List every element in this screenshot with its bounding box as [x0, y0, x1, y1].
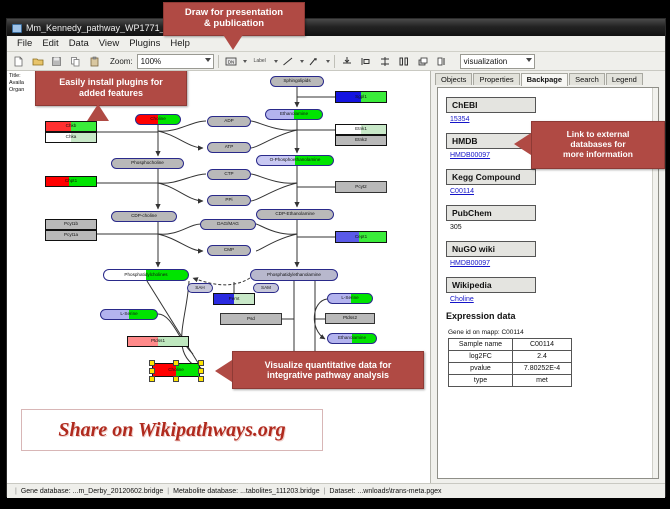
gene-node-cept1[interactable]: Cept1 — [335, 231, 387, 243]
metabolite-node-cdp-choline[interactable]: CDP-choline — [111, 211, 177, 222]
pathway-availability-line: Availa — [9, 80, 24, 87]
node-label: CDP-Ethanolamine — [275, 212, 314, 217]
metabolite-node-phosphatidylethanolamine[interactable]: Phosphatidylethanolamine — [250, 269, 338, 281]
status-metabolite-database-label: Metabolite database: — [173, 488, 238, 495]
db-header-wikipedia: Wikipedia — [446, 277, 536, 293]
cell-key: type — [449, 375, 513, 387]
node-label: Pcyt1b — [64, 222, 78, 227]
statusbar-divider-0: | — [15, 488, 17, 495]
screenshot-root: Mm_Kennedy_pathway_WP1771_45176.gpml Fil… — [0, 0, 670, 509]
label-tool-icon[interactable]: Label — [249, 53, 271, 70]
callout-draw: Draw for presentation & publication — [163, 2, 305, 36]
metabolite-node-ethanolamine-top[interactable]: Ethanolamine — [265, 109, 323, 120]
align-stack-icon[interactable] — [377, 53, 394, 70]
tab-search[interactable]: Search — [569, 73, 605, 85]
db-header-nugo-wiki: NuGO wiki — [446, 241, 536, 257]
menu-view[interactable]: View — [94, 38, 124, 49]
db-header-chebi: ChEBI — [446, 97, 536, 113]
metabolite-node-sam[interactable]: SAM — [253, 283, 279, 293]
gene-node-chpt1[interactable]: Chpt1 — [45, 176, 97, 187]
interaction-tool-icon[interactable] — [306, 53, 323, 70]
callout-draw-arrow-icon — [222, 33, 244, 50]
node-label: PPi — [225, 198, 232, 203]
gene-node-chka[interactable]: Chka — [45, 132, 97, 143]
zoom-label: Zoom: — [110, 57, 133, 66]
metabolite-node-cmp[interactable]: CMP — [207, 245, 251, 256]
node-label: Cept1 — [355, 235, 367, 240]
callout-plugins-text: Easily install plugins for added feature… — [59, 77, 163, 98]
gene-node-pcyt2[interactable]: Pcyt2 — [335, 181, 387, 193]
metabolite-node-choline-top[interactable]: Choline — [135, 114, 181, 125]
menu-plugins[interactable]: Plugins — [124, 38, 165, 49]
align-left-icon[interactable] — [358, 53, 375, 70]
cell-value: C00114 — [513, 339, 572, 351]
db-link-nugo-wiki[interactable]: HMDB00097 — [450, 260, 650, 267]
node-label: O-Phosphoethanolamine — [270, 158, 321, 163]
menu-data[interactable]: Data — [64, 38, 94, 49]
metabolite-node-l-serine-left[interactable]: L-Serine — [100, 309, 158, 320]
status-dataset-value: ...wnloads\trans-meta.pgex — [357, 488, 441, 495]
node-label: DAG/MAG — [217, 222, 239, 227]
metabolite-node-l-serine-right[interactable]: L-Serine — [327, 293, 373, 304]
db-header-pubchem: PubChem — [446, 205, 536, 221]
interaction-dropdown-icon[interactable] — [326, 60, 330, 63]
table-row: pvalue 7.80252E-4 — [449, 363, 572, 375]
metabolite-node-cdp-ethanolamine[interactable]: CDP-Ethanolamine — [256, 209, 334, 220]
node-label: Sphingolipids — [283, 79, 310, 84]
db-link-kegg-compound[interactable]: C00114 — [450, 188, 650, 195]
metabolite-node-phosphatidylcholines[interactable]: Phosphatidylcholines — [103, 269, 189, 281]
db-header-kegg-compound: Kegg Compound — [446, 169, 536, 185]
node-label: Phosphocholine — [131, 161, 164, 166]
node-label: ATP — [225, 145, 234, 150]
node-label: Pcyt1a — [64, 233, 78, 238]
datanode-icon[interactable]: DN — [223, 53, 240, 70]
node-label: Choline — [168, 368, 184, 373]
node-label: Etnk1 — [355, 127, 367, 132]
menu-help[interactable]: Help — [165, 38, 195, 49]
gene-node-sgpl1[interactable]: Sgpl1 — [335, 91, 387, 103]
node-label: CDP-choline — [131, 214, 157, 219]
node-label: Ptdss2 — [343, 316, 357, 321]
gene-node-ptdss2[interactable]: Ptdss2 — [325, 313, 375, 324]
cell-value: 7.80252E-4 — [513, 363, 572, 375]
cell-value: 2.4 — [513, 351, 572, 363]
node-label: CMP — [224, 248, 234, 253]
node-label: Pemt — [229, 297, 240, 302]
tab-legend[interactable]: Legend — [606, 73, 643, 85]
node-label: Ethanolamine — [280, 112, 308, 117]
tab-properties[interactable]: Properties — [473, 73, 519, 85]
metabolite-node-sphingolipids[interactable]: Sphingolipids — [270, 76, 324, 87]
bring-to-front-icon[interactable] — [415, 53, 432, 70]
table-row: type met — [449, 375, 572, 387]
gene-node-chkb[interactable]: Chkb — [45, 121, 97, 132]
gene-node-psd[interactable]: Psd — [220, 313, 282, 325]
status-metabolite-database-value: ...tabolites_111203.bridge — [240, 488, 320, 495]
selection-handle-s[interactable] — [173, 376, 179, 382]
status-gene-database-value: ...m_Derby_20120602.bridge — [73, 488, 164, 495]
metabolite-node-ctp[interactable]: CTP — [207, 169, 251, 180]
svg-text:DN: DN — [228, 59, 235, 64]
chevron-down-icon-2 — [526, 58, 532, 62]
status-gene-database-label: Gene database: — [21, 488, 71, 495]
callout-visualize-arrow-icon — [215, 360, 232, 382]
selection-handle-ne[interactable] — [198, 360, 204, 366]
pathvisio-window: Mm_Kennedy_pathway_WP1771_45176.gpml Fil… — [6, 18, 666, 497]
gene-node-pemt[interactable]: Pemt — [213, 293, 255, 305]
callout-visualize: Visualize quantitative data for integrat… — [232, 351, 424, 389]
side-panel: Objects Properties Backpage Search Legen… — [431, 71, 665, 483]
callout-plugins: Easily install plugins for added feature… — [35, 71, 187, 106]
pathway-canvas[interactable]: Title: Availa Organ — [7, 71, 431, 483]
align-top-icon[interactable] — [339, 53, 356, 70]
callout-visualize-text: Visualize quantitative data for integrat… — [265, 360, 392, 381]
tab-objects[interactable]: Objects — [435, 73, 472, 85]
callout-share-text: Share on Wikipathways.org — [58, 419, 285, 442]
metabolite-node-sah[interactable]: SAH — [187, 283, 213, 293]
statusbar-divider-1: | — [167, 488, 169, 495]
node-label: Psd — [247, 317, 255, 322]
node-label: SAH — [195, 286, 204, 291]
node-label: ADP — [224, 119, 233, 124]
db-link-wikipedia[interactable]: Choline — [450, 296, 650, 303]
gene-id-line: Gene id on mapp: C00114 — [448, 329, 650, 336]
line-tool-icon[interactable] — [280, 53, 297, 70]
node-label: L-Serine — [120, 312, 137, 317]
toolbar-separator-2 — [334, 55, 335, 68]
metabolite-node-dag-mag[interactable]: DAG/MAG — [200, 219, 256, 230]
selection-handle-se[interactable] — [198, 376, 204, 382]
pathvisio-app-icon — [11, 22, 22, 33]
side-panel-tabs: Objects Properties Backpage Search Legen… — [431, 71, 665, 85]
menu-file[interactable]: File — [12, 38, 37, 49]
pathway-info-text: Title: Availa Organ — [9, 73, 24, 94]
zoom-value: 100% — [141, 57, 161, 66]
db-value-pubchem: 305 — [450, 224, 650, 231]
copy-icon[interactable] — [67, 53, 84, 70]
node-label: Phosphatidylethanolamine — [267, 273, 321, 278]
line-dropdown-icon[interactable] — [300, 60, 304, 63]
callout-plugins-arrow-icon — [87, 104, 109, 121]
visualization-value: visualization — [464, 57, 508, 66]
chevron-down-icon — [205, 58, 211, 62]
visualization-combo[interactable]: visualization — [460, 54, 535, 69]
tab-backpage[interactable]: Backpage — [521, 73, 568, 86]
node-label: Choline — [150, 117, 166, 122]
window-titlebar: Mm_Kennedy_pathway_WP1771_45176.gpml — [7, 19, 665, 36]
node-label: Ethanolamine — [338, 336, 366, 341]
callout-share: Share on Wikipathways.org — [21, 409, 323, 451]
gene-node-pcyt1b[interactable]: Pcyt1b — [45, 219, 97, 230]
menubar: File Edit Data View Plugins Help — [7, 36, 665, 52]
paste-icon[interactable] — [86, 53, 103, 70]
selection-handle-w[interactable] — [149, 368, 155, 374]
table-row: log2FC 2.4 — [449, 351, 572, 363]
selection-handle-nw[interactable] — [149, 360, 155, 366]
toolbar: Zoom: 100% DN Label — [7, 52, 665, 71]
node-label: Chkb — [66, 124, 77, 129]
table-row: Sample name C00114 — [449, 339, 572, 351]
metabolite-node-atp[interactable]: ATP — [207, 142, 251, 153]
expression-data-heading: Expression data — [446, 311, 650, 321]
same-width-icon[interactable] — [396, 53, 413, 70]
new-file-icon[interactable] — [10, 53, 27, 70]
node-label: SAM — [261, 286, 271, 291]
gene-node-ptdss1[interactable]: Ptdss1 — [127, 336, 189, 347]
gene-node-pcyt1a[interactable]: Pcyt1a — [45, 230, 97, 241]
gene-node-etnk1[interactable]: Etnk1 — [335, 124, 387, 135]
expression-data-table: Sample name C00114 log2FC 2.4 pvalue 7.8… — [448, 338, 572, 387]
cell-key: Sample name — [449, 339, 513, 351]
save-icon[interactable] — [48, 53, 65, 70]
send-to-back-icon[interactable] — [434, 53, 451, 70]
node-label: Phosphatidylcholines — [124, 273, 167, 278]
callout-links-text: Link to external databases for more info… — [563, 130, 633, 159]
cell-key: log2FC — [449, 351, 513, 363]
statusbar: | Gene database: ...m_Derby_20120602.bri… — [7, 483, 665, 498]
node-label: Sgpl1 — [355, 95, 367, 100]
callout-links: Link to external databases for more info… — [531, 121, 665, 169]
selection-handle-sw[interactable] — [149, 376, 155, 382]
pathway-organism-line: Organ — [9, 87, 24, 94]
toolbar-separator — [218, 55, 219, 68]
node-label: Ptdss1 — [151, 339, 165, 344]
statusbar-divider-2: | — [324, 488, 326, 495]
metabolite-node-ethanolamine-bottom[interactable]: Ethanolamine — [327, 333, 377, 344]
label-dropdown-icon[interactable] — [274, 60, 278, 63]
node-label: Chka — [66, 135, 77, 140]
selection-handle-e[interactable] — [198, 368, 204, 374]
node-label: CTP — [224, 172, 233, 177]
cell-key: pvalue — [449, 363, 513, 375]
node-label: L-Serine — [341, 296, 358, 301]
cell-value: met — [513, 375, 572, 387]
callout-links-arrow-icon — [514, 133, 531, 155]
gene-node-etnk2[interactable]: Etnk2 — [335, 135, 387, 146]
node-label: Etnk2 — [355, 138, 367, 143]
callout-draw-text: Draw for presentation & publication — [185, 8, 283, 30]
metabolite-node-adp[interactable]: ADP — [207, 116, 251, 127]
node-label: Chpt1 — [65, 179, 77, 184]
open-folder-icon[interactable] — [29, 53, 46, 70]
main-split: Title: Availa Organ — [7, 71, 665, 483]
metabolite-node-phosphocholine[interactable]: Phosphocholine — [111, 158, 184, 169]
selection-handle-n[interactable] — [173, 360, 179, 366]
node-label: Pcyt2 — [355, 185, 367, 190]
metabolite-node-ppi[interactable]: PPi — [207, 195, 251, 206]
metabolite-node-o-phosphoethanolamine[interactable]: O-Phosphoethanolamine — [256, 155, 334, 166]
datanode-dropdown-icon[interactable] — [243, 60, 247, 63]
zoom-combo[interactable]: 100% — [137, 54, 214, 69]
pathway-title-line: Title: — [9, 73, 24, 80]
menu-edit[interactable]: Edit — [37, 38, 63, 49]
status-dataset-label: Dataset: — [329, 488, 355, 495]
